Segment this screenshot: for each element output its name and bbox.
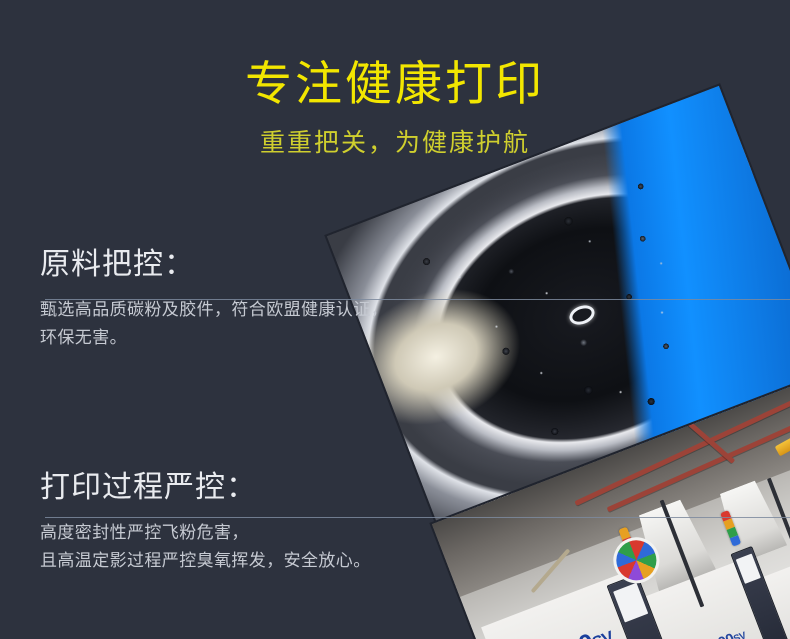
panel-screen: [736, 553, 761, 583]
header: 专注健康打印 重重把关，为健康护航: [0, 0, 790, 159]
section-print-process-control: 打印过程严控： 高度密封性严控飞粉危害， 且高温定影过程严控臭氧挥发，安全放心。: [40, 468, 460, 575]
page-title: 专注健康打印: [0, 55, 790, 113]
section-body-line: 环保无害。: [40, 324, 460, 352]
section-heading: 原料把控：: [40, 245, 460, 285]
section-body-line: 甄选高品质碳粉及胶件，符合欧盟健康认证，: [40, 296, 460, 324]
section-body: 高度密封性严控飞粉危害， 且高温定影过程严控臭氧挥发，安全放心。: [40, 519, 460, 575]
page-subtitle: 重重把关，为健康护航: [0, 127, 790, 159]
section-heading: 打印过程严控：: [40, 468, 460, 508]
section-body-line: 且高温定影过程严控臭氧挥发，安全放心。: [40, 547, 460, 575]
panel-screen: [613, 583, 648, 622]
section-body: 甄选高品质碳粉及胶件，符合欧盟健康认证， 环保无害。: [40, 296, 460, 352]
promo-page: D100SV D100SV 3 专注健康打印 重重把关，为健康护航 原料把控： …: [0, 0, 790, 639]
section-material-control: 原料把控： 甄选高品质碳粉及胶件，符合欧盟健康认证， 环保无害。: [40, 245, 460, 352]
section-body-line: 高度密封性严控飞粉危害，: [40, 519, 460, 547]
